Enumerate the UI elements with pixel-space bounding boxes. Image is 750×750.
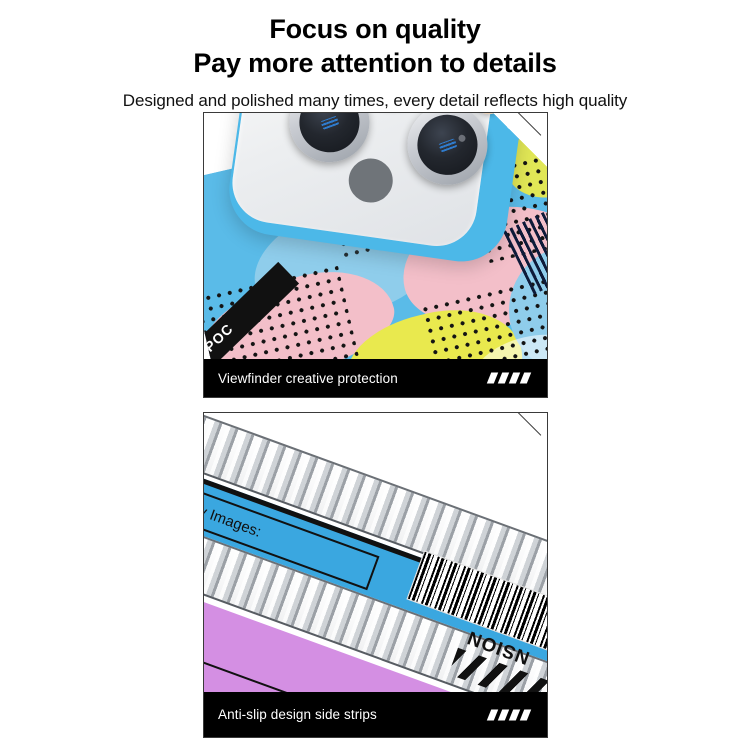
- product-feature-page: Focus on quality Pay more attention to d…: [0, 0, 750, 750]
- lidar-sensor-dot: [346, 156, 396, 206]
- lens-glint-icon: [438, 138, 457, 152]
- page-header: Focus on quality Pay more attention to d…: [0, 0, 750, 111]
- feature-panel-viewfinder: POC Viewfinder creative protection: [203, 112, 548, 398]
- binary-images-text: Binary Images:: [204, 487, 264, 540]
- headline-line-2: Pay more attention to details: [0, 47, 750, 79]
- panel-1-caption-bar: Viewfinder creative protection: [204, 359, 547, 397]
- panel-1-corner-chamfer: [493, 113, 547, 167]
- feature-panel-antislip: Binary Images: NSION -extreme (0): [203, 412, 548, 738]
- headline-line-1: Focus on quality: [0, 13, 750, 45]
- panel-2-caption-text: Anti-slip design side strips: [204, 707, 377, 722]
- panel-2-caption-bar: Anti-slip design side strips: [204, 692, 547, 737]
- slash-decoration-icon: [489, 373, 529, 384]
- camera-lens-3: [402, 113, 492, 190]
- lens-glint-icon: [320, 115, 339, 129]
- slash-decoration-icon: [489, 709, 529, 720]
- panel-1-caption-text: Viewfinder creative protection: [204, 371, 398, 386]
- page-subtitle: Designed and polished many times, every …: [0, 91, 750, 111]
- panel-2-corner-chamfer: [493, 413, 547, 467]
